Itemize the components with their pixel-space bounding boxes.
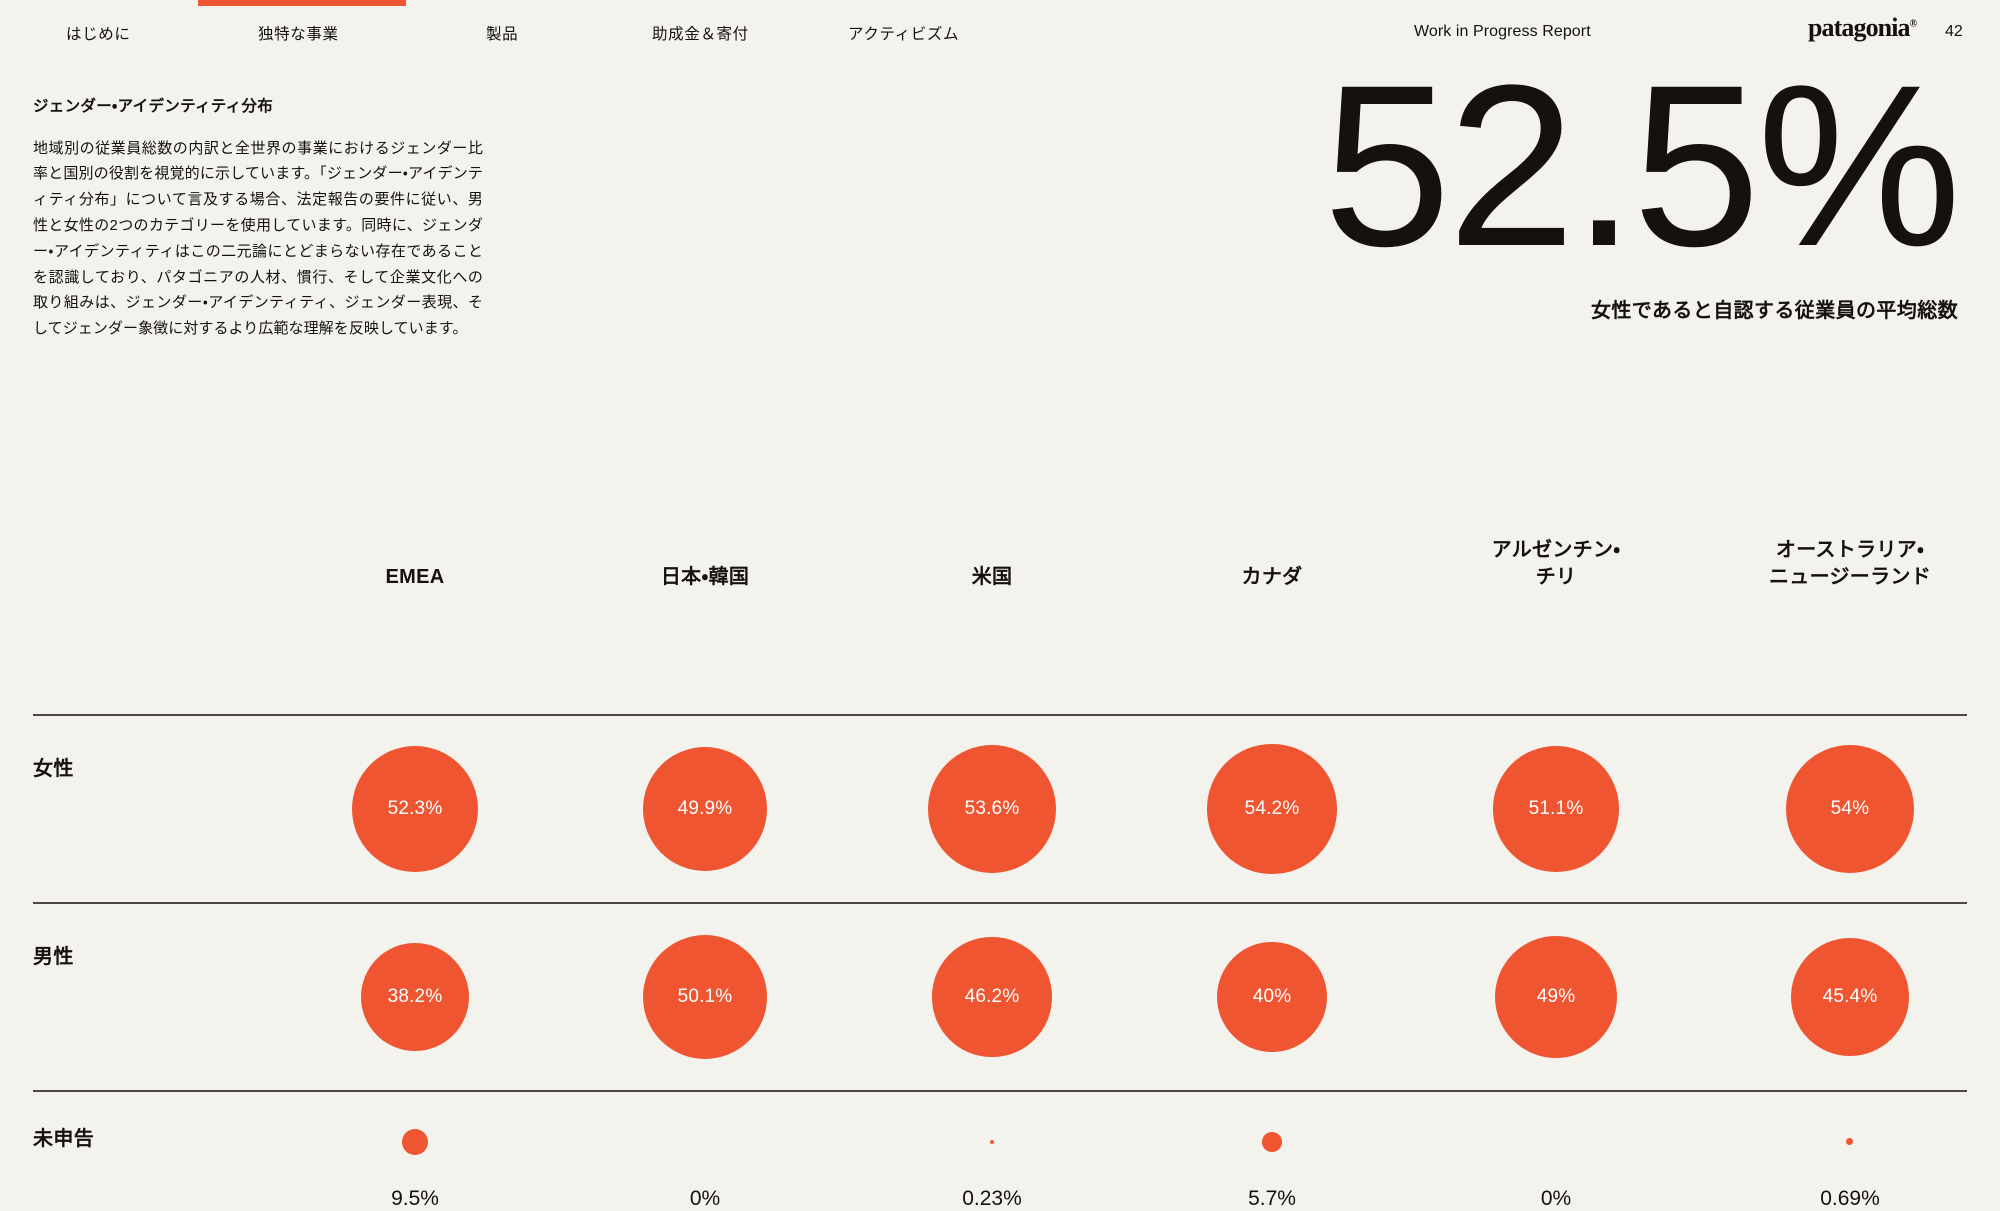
nav-item-intro[interactable]: はじめに bbox=[66, 22, 130, 44]
undeclared-value-5: 0.69% bbox=[1720, 1187, 1980, 1211]
description-block: ジェンダー・アイデンティティ分布 地域別の従業員総数の内訳と全世界の事業における… bbox=[33, 96, 483, 342]
nav-item-grants[interactable]: 助成金＆寄付 bbox=[652, 22, 749, 44]
nav-item-list: はじめに 独特な事業 製品 助成金＆寄付 アクティビズム bbox=[0, 0, 1260, 66]
undeclared-value-4: 0% bbox=[1426, 1187, 1686, 1211]
hero-value: 52.5% bbox=[1238, 60, 1958, 272]
bubble-2-3 bbox=[1262, 1132, 1282, 1152]
bubble-0-0: 52.3% bbox=[352, 746, 479, 873]
undeclared-value-0: 9.5% bbox=[285, 1187, 545, 1211]
bubble-2-2 bbox=[990, 1140, 994, 1144]
bubble-0-2: 53.6% bbox=[928, 745, 1056, 873]
bubble-value-1-5: 45.4% bbox=[1823, 986, 1878, 1008]
hero-caption: 女性であると自認する従業員の平均総数 bbox=[1238, 294, 1958, 323]
bubble-value-0-2: 53.6% bbox=[965, 798, 1020, 820]
section-title: ジェンダー・アイデンティティ分布 bbox=[33, 96, 483, 118]
bubble-value-1-0: 38.2% bbox=[388, 986, 443, 1008]
bubble-1-1: 50.1% bbox=[643, 935, 767, 1059]
bubble-0-5: 54% bbox=[1786, 745, 1915, 874]
registered-trademark-icon: ® bbox=[1910, 18, 1917, 29]
bubble-value-0-3: 54.2% bbox=[1245, 798, 1300, 820]
bubble-2-0 bbox=[402, 1129, 428, 1155]
bubble-value-1-3: 40% bbox=[1253, 986, 1292, 1008]
row-label-1: 男性 bbox=[33, 940, 74, 969]
bubble-1-3: 40% bbox=[1217, 942, 1328, 1053]
bubble-0-1: 49.9% bbox=[643, 747, 767, 871]
row-divider-0 bbox=[33, 714, 1967, 716]
nav-item-activism[interactable]: アクティビズム bbox=[848, 22, 959, 44]
column-header-0: EMEA bbox=[285, 564, 545, 591]
column-header-2: 米国 bbox=[862, 564, 1122, 591]
bubble-0-3: 54.2% bbox=[1207, 744, 1336, 873]
column-header-1: 日本・韓国 bbox=[575, 564, 835, 591]
undeclared-value-2: 0.23% bbox=[862, 1187, 1122, 1211]
bubble-1-0: 38.2% bbox=[361, 943, 469, 1051]
row-divider-2 bbox=[33, 1090, 1967, 1092]
bubble-value-1-1: 50.1% bbox=[678, 986, 733, 1008]
bubble-value-0-1: 49.9% bbox=[678, 798, 733, 820]
column-header-3: カナダ bbox=[1142, 564, 1402, 591]
bubble-1-4: 49% bbox=[1495, 936, 1618, 1059]
bubble-value-1-4: 49% bbox=[1537, 986, 1576, 1008]
gender-distribution-matrix: EMEA日本・韓国米国カナダアルゼンチン・ チリオーストラリア・ ニュージーラン… bbox=[0, 500, 2000, 607]
row-label-2: 未申告 bbox=[33, 1122, 94, 1151]
column-header-row: EMEA日本・韓国米国カナダアルゼンチン・ チリオーストラリア・ ニュージーラン… bbox=[0, 500, 2000, 607]
section-body: 地域別の従業員総数の内訳と全世界の事業におけるジェンダー比率と国別の役割を視覚的… bbox=[33, 136, 483, 342]
nav-item-business[interactable]: 独特な事業 bbox=[258, 22, 339, 44]
bubble-value-0-5: 54% bbox=[1831, 798, 1870, 820]
undeclared-value-3: 5.7% bbox=[1142, 1187, 1402, 1211]
column-header-5: オーストラリア・ ニュージーランド bbox=[1720, 537, 1980, 591]
hero-stat: 52.5% 女性であると自認する従業員の平均総数 bbox=[1238, 60, 1958, 323]
nav-item-products[interactable]: 製品 bbox=[486, 22, 518, 44]
column-header-4: アルゼンチン・ チリ bbox=[1426, 537, 1686, 591]
bubble-2-5 bbox=[1846, 1138, 1853, 1145]
bubble-value-1-2: 46.2% bbox=[965, 986, 1020, 1008]
undeclared-value-1: 0% bbox=[575, 1187, 835, 1211]
bubble-1-2: 46.2% bbox=[932, 937, 1051, 1056]
bubble-0-4: 51.1% bbox=[1493, 746, 1618, 871]
bubble-1-5: 45.4% bbox=[1791, 938, 1909, 1056]
bubble-value-0-4: 51.1% bbox=[1529, 798, 1584, 820]
bubble-value-0-0: 52.3% bbox=[388, 798, 443, 820]
row-divider-1 bbox=[33, 902, 1967, 904]
row-label-0: 女性 bbox=[33, 752, 74, 781]
